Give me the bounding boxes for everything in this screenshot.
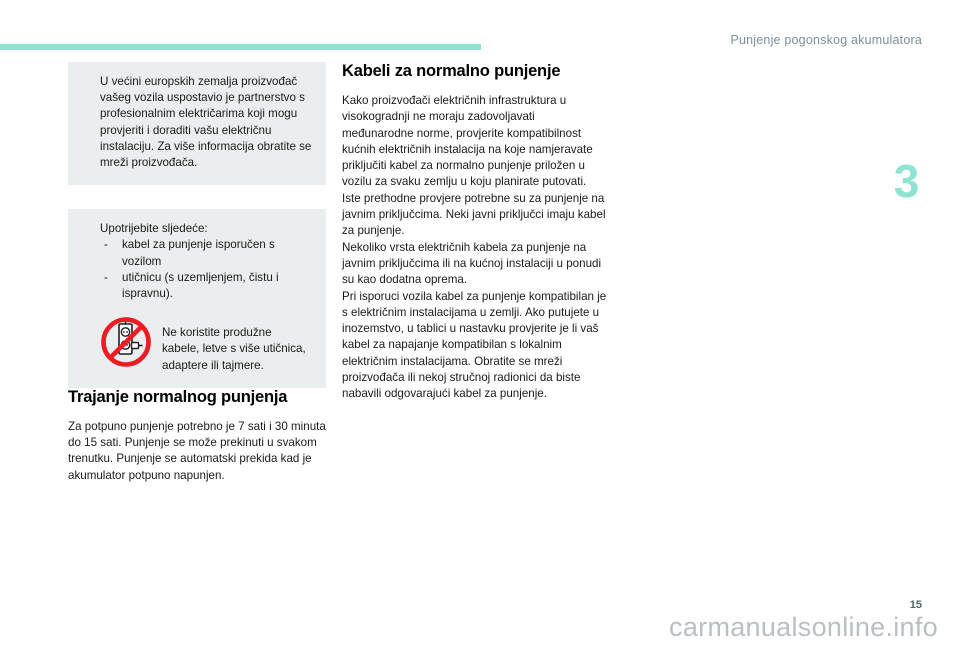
info-callout-text: U većini europskih zemalja proizvođač va…: [100, 74, 312, 171]
list-item-label: kabel za punjenje isporučen s vozilom: [122, 238, 275, 267]
dash-bullet: -: [104, 237, 108, 253]
warning-callout-body: Upotrijebite sljedeće: - kabel za punjen…: [100, 221, 312, 302]
section-title-normal-charging-cables: Kabeli za normalno punjenje: [342, 62, 608, 81]
header-accent-rule: [0, 44, 481, 50]
prohibition-notice: Ne koristite produžne kabele, letve s vi…: [82, 320, 312, 374]
page-header-title: Punjenje pogonskog akumulatora: [730, 33, 922, 47]
prohibition-text: Ne koristite produžne kabele, letve s vi…: [162, 320, 312, 374]
info-callout: U većini europskih zemalja proizvođač va…: [68, 62, 326, 185]
right-column: Kabeli za normalno punjenje Kako proizvo…: [342, 62, 608, 403]
chapter-number-tab: 3: [880, 158, 932, 204]
warning-intro-text: Upotrijebite sljedeće:: [100, 221, 312, 237]
list-item: - utičnicu (s uzemljenjem, čistu i ispra…: [100, 270, 312, 302]
list-item: - kabel za punjenje isporučen s vozilom: [100, 237, 312, 269]
section-body-charging-duration: Za potpuno punjenje potrebno je 7 sati i…: [68, 419, 326, 484]
dash-bullet: -: [104, 270, 108, 286]
warning-item-list: - kabel za punjenje isporučen s vozilom …: [100, 237, 312, 302]
info-icon: [82, 74, 100, 75]
warning-callout: Upotrijebite sljedeće: - kabel za punjen…: [68, 209, 326, 388]
list-item-label: utičnicu (s uzemljenjem, čistu i ispravn…: [122, 271, 279, 300]
page-number: 15: [910, 599, 922, 611]
paragraph: Iste prethodne provjere potrebne su za p…: [342, 191, 608, 240]
paragraph: Kako proizvođači električnih infrastrukt…: [342, 93, 608, 191]
no-extension-cord-icon: [100, 316, 152, 368]
section-title-charging-duration: Trajanje normalnog punjenja: [68, 388, 326, 407]
site-watermark: carmanualsonline.info: [669, 612, 938, 643]
paragraph: Nekoliko vrsta električnih kabela za pun…: [342, 240, 608, 289]
paragraph: Pri isporuci vozila kabel za punjenje ko…: [342, 289, 608, 403]
warning-icon: [82, 221, 100, 222]
left-column: U većini europskih zemalja proizvođač va…: [68, 62, 326, 484]
